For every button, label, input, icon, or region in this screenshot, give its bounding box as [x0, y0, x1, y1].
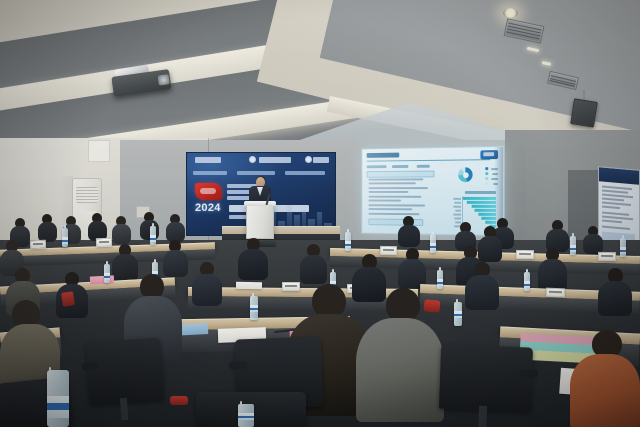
name-card: [546, 288, 565, 298]
water-bottle: [570, 236, 576, 255]
attendee: [583, 226, 603, 253]
lectern: [246, 203, 274, 239]
water-bottle: [62, 228, 68, 247]
attendee: [300, 244, 327, 282]
water-bottle: [430, 234, 436, 253]
red-bag-accent: [423, 299, 440, 313]
attendee: [88, 213, 107, 240]
conference-room-photo: 2024: [0, 0, 640, 427]
water-bottle-foreground: [238, 404, 254, 427]
attendee: [38, 214, 57, 241]
water-bottle: [620, 238, 626, 257]
chair: [439, 344, 533, 411]
name-card: [598, 252, 616, 261]
attendee: [546, 220, 569, 251]
name-card: [30, 240, 46, 250]
red-bag-accent: [170, 396, 188, 405]
attendee: [478, 226, 502, 260]
attendee: [238, 238, 268, 278]
banner-year: 2024: [195, 202, 221, 214]
red-bag-accent: [61, 291, 75, 307]
chair: [86, 337, 164, 404]
attendee: [192, 262, 222, 304]
projection-screen: [361, 146, 504, 236]
name-card: [516, 250, 534, 259]
attendee: [166, 214, 185, 241]
water-bottle: [250, 296, 258, 320]
name-card: [96, 238, 112, 248]
banner-emblem: [195, 183, 222, 200]
ceiling-speaker-icon: [570, 98, 598, 127]
attendee: [398, 248, 426, 286]
attendee: [112, 216, 131, 243]
document: [236, 282, 262, 289]
water-bottle: [524, 272, 530, 291]
document: [90, 275, 114, 284]
downlight-icon: [503, 8, 518, 18]
water-bottle: [454, 302, 462, 326]
water-bottle: [345, 232, 351, 251]
wall-notice-sign: [88, 140, 110, 162]
water-bottle: [437, 270, 443, 289]
attendee: [538, 248, 567, 288]
attendee: [465, 262, 499, 308]
attendee: [398, 216, 420, 246]
attendee-rust-coat: [570, 330, 640, 427]
water-bottle: [150, 226, 156, 245]
water-bottle-foreground: [47, 370, 69, 427]
attendee: [598, 268, 632, 314]
water-bottle: [104, 264, 110, 283]
attendee: [163, 240, 188, 275]
